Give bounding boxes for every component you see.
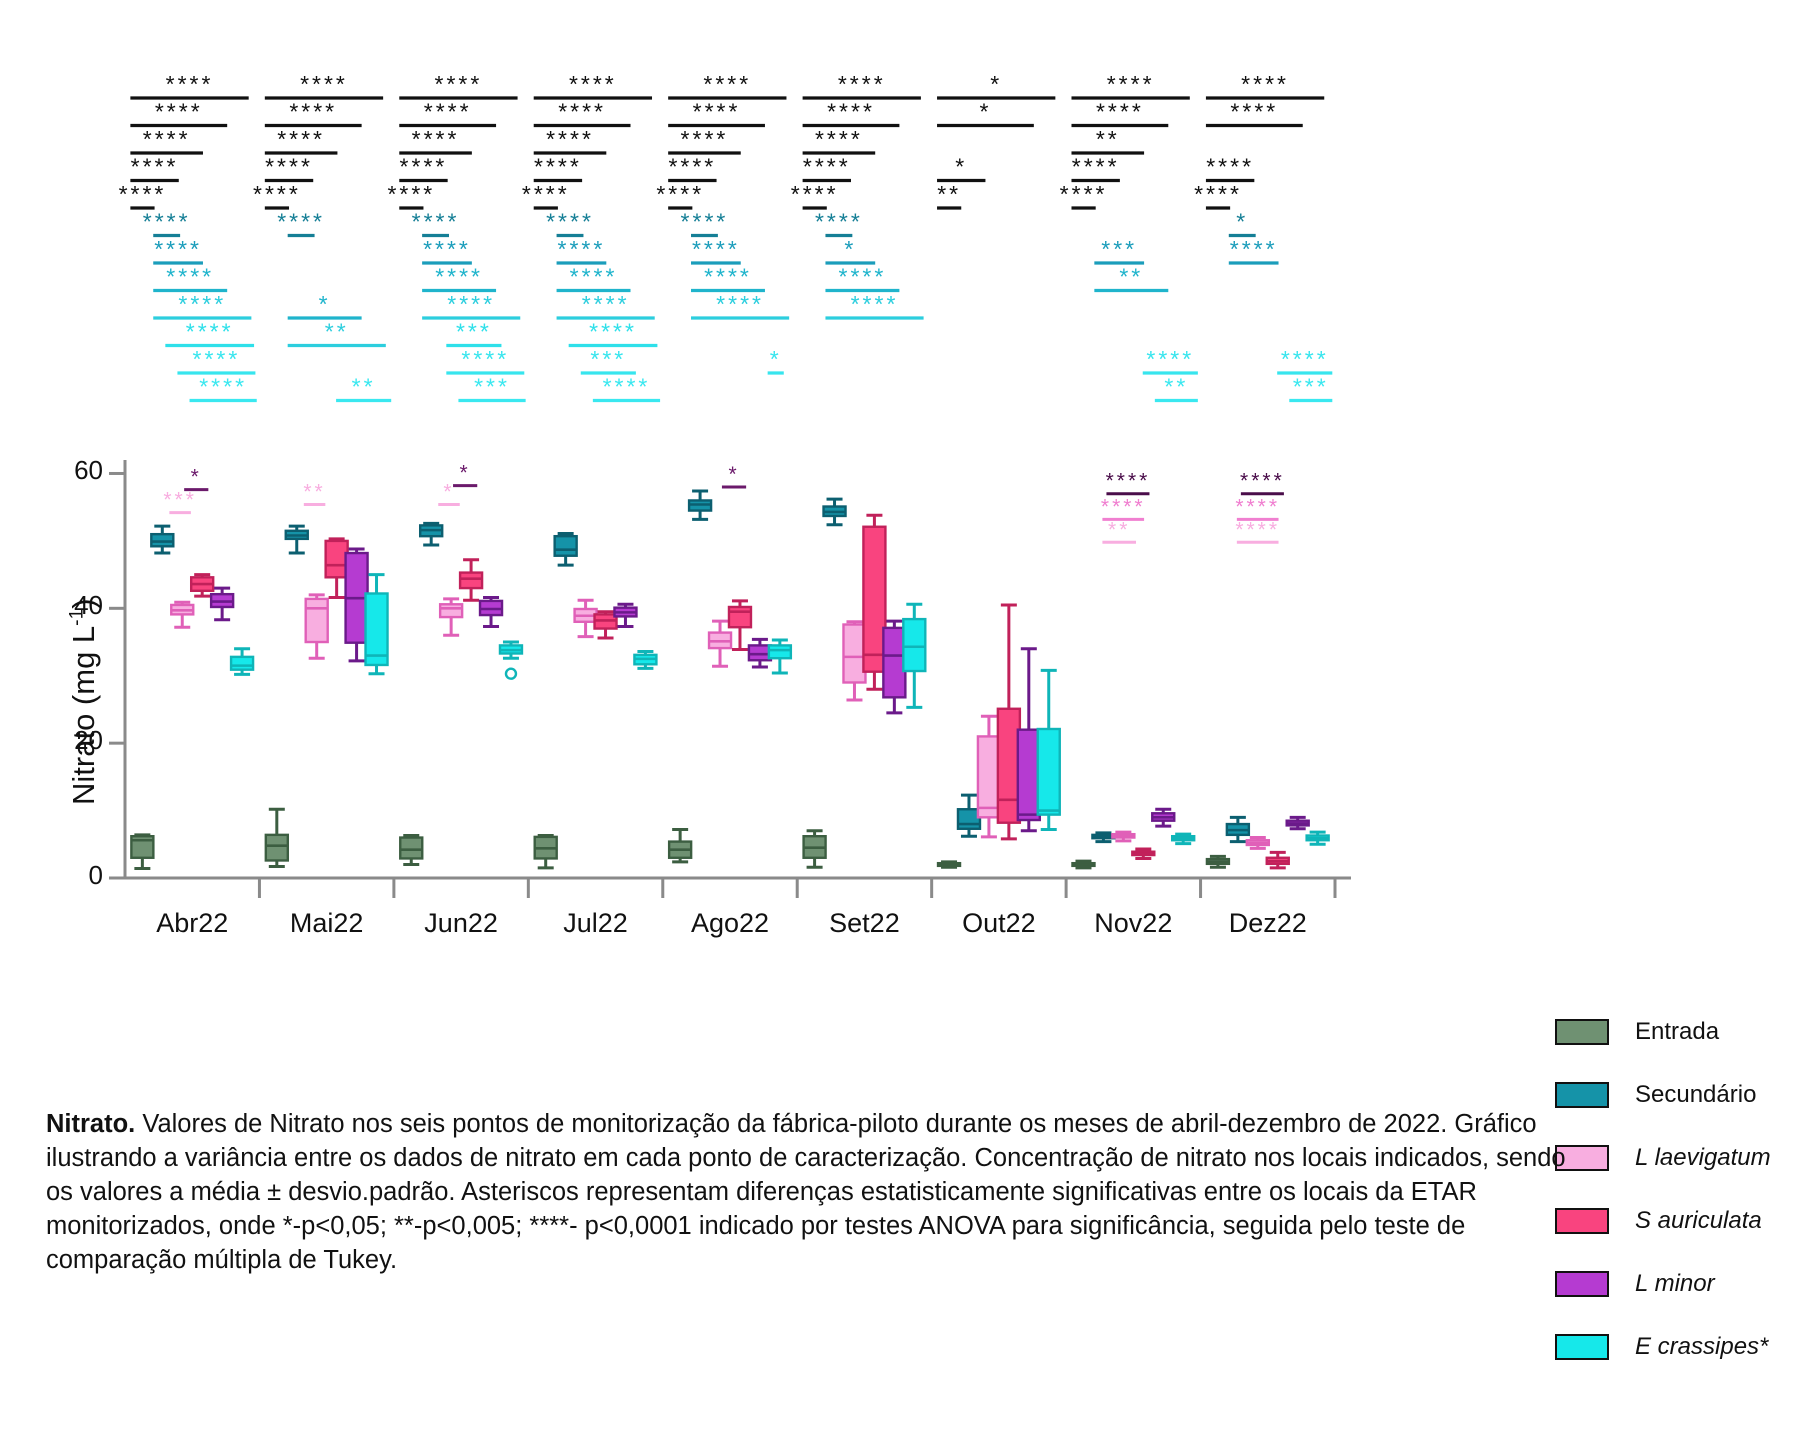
boxplot-box [575, 600, 597, 636]
significance-bracket: **** [422, 264, 496, 291]
legend-item-0[interactable]: Entrada [1555, 1000, 1771, 1063]
boxplot-box [500, 642, 522, 679]
bracket-stars: ** [937, 181, 961, 207]
box-iqr [266, 835, 288, 861]
bracket-stars: **** [791, 181, 839, 207]
significance-bracket: **** [130, 126, 203, 153]
significance-bracket: ** [1094, 264, 1168, 291]
bracket-stars: **** [693, 99, 741, 125]
boxplot-box [729, 601, 751, 650]
significance-bracket: * [937, 71, 1055, 98]
boxplot-box [804, 831, 826, 867]
caption-body: Valores de Nitrato nos seis pontos de mo… [46, 1110, 1566, 1274]
boxplot-box [824, 499, 846, 525]
inline-significance-bracket: **** [1235, 495, 1280, 519]
box-iqr [729, 607, 751, 627]
bracket-stars: **** [546, 209, 594, 235]
caption-bold-lead: Nitrato. [46, 1110, 135, 1138]
box-iqr [978, 736, 1000, 817]
significance-bracket: *** [458, 374, 525, 401]
legend-item-3[interactable]: S auriculata [1555, 1189, 1771, 1252]
significance-bracket: **** [557, 236, 607, 263]
significance-bracket: **** [153, 291, 251, 318]
boxplot-box [1227, 817, 1249, 841]
boxplot-box [1287, 817, 1309, 828]
bracket-stars: **** [166, 71, 214, 97]
bracket-stars: **** [681, 126, 729, 152]
bracket-stars: **** [827, 99, 875, 125]
bracket-stars: **** [186, 319, 234, 345]
bracket-stars: **** [603, 374, 651, 400]
bracket-stars: **** [838, 71, 886, 97]
significance-bracket: **** [265, 126, 338, 153]
significance-bracket: **** [399, 154, 447, 181]
boxplot-box [843, 622, 865, 700]
bracket-stars: **** [1230, 99, 1278, 125]
box-iqr [863, 527, 885, 672]
bracket-stars: **** [839, 264, 887, 290]
boxplot-box [266, 809, 288, 866]
x-tick-label: Out22 [932, 908, 1066, 939]
bracket-stars: **** [534, 154, 582, 180]
boxplot-box [440, 599, 462, 635]
bracket-stars: **** [570, 264, 618, 290]
legend-item-2[interactable]: L laevigatum [1555, 1126, 1771, 1189]
bracket-stars: **** [143, 126, 191, 152]
bracket-stars: **** [1096, 99, 1144, 125]
bracket-stars: **** [703, 71, 751, 97]
bracket-stars: ** [325, 319, 349, 345]
significance-bracket: **** [1060, 181, 1108, 208]
bracket-stars: **** [1194, 181, 1242, 207]
box-iqr [460, 573, 482, 589]
bracket-stars: **** [412, 209, 460, 235]
bracket-stars: **** [668, 154, 716, 180]
bracket-stars: **** [289, 99, 337, 125]
significance-bracket: *** [1094, 236, 1144, 263]
figure-caption: Nitrato. Valores de Nitrato nos seis pon… [46, 1108, 1566, 1278]
bracket-stars: **** [1101, 495, 1146, 518]
boxplot-box [1112, 832, 1134, 841]
significance-bracket: **** [1071, 154, 1119, 181]
box-iqr [231, 657, 253, 670]
bracket-stars: * [990, 71, 1002, 97]
inline-significance-bracket: * [453, 462, 477, 486]
outlier-point [506, 669, 516, 679]
bracket-stars: **** [1281, 346, 1329, 372]
significance-bracket: **** [569, 319, 658, 346]
bracket-stars: * [955, 154, 967, 180]
inline-significance-bracket: ** [303, 480, 325, 504]
bracket-stars: *** [456, 319, 492, 345]
bracket-stars: **** [178, 291, 226, 317]
significance-bracket: **** [153, 236, 203, 263]
boxplot-box [480, 598, 502, 627]
significance-bracket: *** [446, 319, 501, 346]
bracket-stars: **** [387, 181, 435, 207]
significance-bracket: **** [656, 181, 704, 208]
bracket-stars: **** [1206, 154, 1254, 180]
boxplot-box [883, 621, 905, 713]
boxplot-box [634, 651, 656, 668]
significance-bracket: **** [153, 264, 227, 291]
inline-significance-bracket: **** [1106, 470, 1151, 494]
significance-bracket: **** [668, 126, 741, 153]
bracket-stars: **** [704, 264, 752, 290]
y-tick-label: 60 [0, 455, 103, 486]
significance-bracket: **** [1206, 99, 1303, 126]
bracket-stars: **** [277, 126, 325, 152]
legend-item-4[interactable]: L minor [1555, 1252, 1771, 1315]
significance-bracket: **** [130, 99, 227, 126]
significance-bracket: **** [534, 71, 652, 98]
significance-bracket: **** [803, 99, 900, 126]
boxplot-box [1152, 809, 1174, 826]
boxplot-box [1307, 832, 1329, 844]
bracket-stars: **** [558, 99, 606, 125]
boxplot-box [346, 549, 368, 661]
boxplot-box [1038, 670, 1060, 829]
bracket-stars: **** [522, 181, 570, 207]
boxplot-box [669, 829, 691, 861]
significance-bracket: **** [546, 209, 594, 236]
significance-bracket: **** [253, 181, 301, 208]
significance-bracket: **** [825, 264, 899, 291]
box-iqr [903, 619, 925, 671]
bracket-stars: **** [435, 71, 483, 97]
legend-item-1[interactable]: Secundário [1555, 1063, 1771, 1126]
boxplot-box [326, 539, 348, 598]
x-tick-label: Ago22 [663, 908, 797, 939]
boxplot-box [555, 533, 577, 565]
bracket-stars: **** [166, 264, 214, 290]
significance-bracket: **** [791, 181, 839, 208]
bracket-stars: **** [154, 236, 202, 262]
x-tick-label: Nov22 [1066, 908, 1200, 939]
bracket-stars: *** [163, 489, 197, 512]
boxplot-box [1072, 861, 1094, 868]
bracket-stars: *** [1101, 236, 1137, 262]
bracket-stars: **** [815, 209, 863, 235]
significance-bracket: **** [668, 154, 716, 181]
significance-bracket: **** [446, 346, 524, 373]
bracket-stars: **** [1146, 346, 1194, 372]
inline-significance-bracket: *** [163, 489, 197, 513]
significance-bracket: **** [593, 374, 660, 401]
significance-bracket: **** [1071, 99, 1168, 126]
inline-significance-bracket: * [184, 466, 208, 490]
box-iqr [151, 534, 173, 546]
significance-bracket: **** [190, 374, 257, 401]
significance-bracket: **** [1143, 346, 1198, 373]
bracket-stars: * [191, 466, 202, 489]
significance-bracket: **** [412, 209, 460, 236]
inline-significance-bracket: * [438, 480, 460, 504]
bracket-stars: **** [1235, 518, 1280, 541]
significance-bracket: **** [803, 126, 876, 153]
bracket-stars: **** [692, 236, 740, 262]
significance-bracket: **** [557, 264, 631, 291]
bracket-stars: **** [199, 374, 247, 400]
significance-bracket: **** [119, 181, 167, 208]
significance-bracket: **** [1206, 71, 1324, 98]
y-axis-title: Nitrato (mg L-1) [66, 598, 102, 805]
bracket-stars: **** [656, 181, 704, 207]
bracket-stars: **** [716, 291, 764, 317]
bracket-stars: **** [851, 291, 899, 317]
bracket-stars: **** [1060, 181, 1108, 207]
bracket-stars: **** [1230, 236, 1278, 262]
significance-bracket: **** [130, 71, 248, 98]
significance-bracket: **** [691, 236, 741, 263]
significance-bracket: ** [288, 319, 386, 346]
bracket-stars: **** [423, 236, 471, 262]
bracket-stars: **** [803, 154, 851, 180]
boxplot-box [595, 612, 617, 638]
x-tick-label: Dez22 [1201, 908, 1335, 939]
boxplot-box [769, 640, 791, 673]
significance-bracket: **** [534, 99, 631, 126]
significance-bracket: **** [1277, 346, 1332, 373]
legend-label: S auriculata [1635, 1207, 1762, 1235]
bracket-stars: **** [131, 154, 179, 180]
boxplot-box [863, 515, 885, 689]
significance-bracket: **** [265, 154, 313, 181]
boxplot-box [460, 560, 482, 600]
box-iqr [1038, 729, 1060, 815]
bracket-stars: **** [569, 71, 617, 97]
boxplot-box [151, 526, 173, 553]
y-tick-label: 0 [0, 860, 103, 891]
legend-label: L minor [1635, 1270, 1715, 1298]
y-tick-label: 20 [0, 725, 103, 756]
bracket-stars: **** [681, 209, 729, 235]
bracket-stars: * [770, 346, 782, 372]
box-iqr [883, 628, 905, 697]
box-iqr [326, 541, 348, 577]
significance-bracket: **** [825, 291, 923, 318]
boxplot-box [938, 862, 960, 867]
legend: EntradaSecundárioL laevigatumS auriculat… [1555, 1000, 1771, 1378]
box-iqr [1018, 730, 1040, 820]
x-tick-label: Jul22 [528, 908, 662, 939]
bracket-stars: **** [155, 99, 203, 125]
significance-bracket: **** [1206, 154, 1254, 181]
inline-significance-bracket: **** [1240, 470, 1285, 494]
significance-bracket: **** [522, 181, 570, 208]
bracket-stars: **** [412, 126, 460, 152]
y-axis-title-main: Nitrato (mg L [66, 626, 101, 805]
significance-bracket: **** [422, 291, 520, 318]
bracket-stars: **** [1235, 495, 1280, 518]
significance-bracket: **** [691, 264, 765, 291]
boxplot-box [420, 523, 442, 545]
bracket-stars: **** [143, 209, 191, 235]
boxplot-box [171, 602, 193, 627]
legend-swatch [1555, 1334, 1609, 1360]
box-iqr [440, 604, 462, 617]
significance-layer: ****************************************… [119, 71, 1333, 542]
legend-swatch [1555, 1082, 1609, 1108]
significance-bracket: **** [265, 99, 362, 126]
significance-bracket: **** [534, 154, 582, 181]
bracket-stars: * [728, 463, 739, 486]
significance-bracket: **** [399, 71, 517, 98]
bracket-stars: **** [582, 291, 630, 317]
bracket-stars: **** [1240, 470, 1285, 493]
bracket-stars: * [1236, 209, 1248, 235]
significance-bracket: **** [130, 154, 178, 181]
bracket-stars: * [460, 462, 471, 485]
boxplot-box [131, 835, 153, 869]
bracket-stars: **** [119, 181, 167, 207]
bracket-stars: **** [1107, 71, 1155, 97]
box-iqr [306, 599, 328, 642]
boxplot-box [306, 595, 328, 658]
y-tick-label: 40 [0, 590, 103, 621]
bracket-stars: **** [400, 154, 448, 180]
significance-bracket: * [825, 236, 875, 263]
significance-bracket: *** [581, 346, 636, 373]
bracket-stars: **** [424, 99, 472, 125]
bracket-stars: ** [1119, 264, 1143, 290]
bracket-stars: **** [300, 71, 348, 97]
bracket-stars: **** [589, 319, 637, 345]
significance-bracket: **** [681, 209, 729, 236]
legend-swatch [1555, 1019, 1609, 1045]
bracket-stars: ** [1096, 126, 1120, 152]
significance-bracket: **** [143, 209, 191, 236]
significance-bracket: * [768, 346, 784, 373]
bracket-stars: ** [1108, 518, 1130, 541]
bracket-stars: **** [1106, 470, 1151, 493]
inline-significance-bracket: **** [1101, 495, 1146, 519]
bracket-stars: **** [193, 346, 241, 372]
legend-item-5[interactable]: E crassipes* [1555, 1315, 1771, 1378]
significance-bracket: **** [1229, 236, 1279, 263]
boxplot-box [231, 649, 253, 675]
bracket-stars: **** [1241, 71, 1289, 97]
bracket-stars: *** [1293, 374, 1329, 400]
bracket-stars: **** [435, 264, 483, 290]
bracket-stars: ** [1164, 374, 1188, 400]
bracket-stars: **** [1072, 154, 1120, 180]
significance-bracket: **** [1071, 71, 1189, 98]
bracket-stars: **** [253, 181, 301, 207]
bracket-stars: * [443, 480, 454, 503]
boxplot-box [1207, 856, 1229, 867]
significance-bracket: * [288, 291, 362, 318]
boxplot-box [1092, 833, 1114, 842]
significance-bracket: **** [668, 71, 786, 98]
boxplot-box [286, 526, 308, 553]
boxplot-box [709, 621, 731, 666]
boxplot-box [1267, 852, 1289, 868]
boxplot-box [211, 588, 233, 620]
significance-bracket: **** [668, 99, 765, 126]
bracket-stars: ** [352, 374, 376, 400]
significance-bracket: **** [557, 291, 655, 318]
boxplot-box [614, 604, 636, 626]
significance-bracket: **** [387, 181, 435, 208]
boxplot-box [1247, 838, 1269, 849]
bracket-stars: **** [815, 126, 863, 152]
bracket-stars: * [319, 291, 331, 317]
significance-bracket: **** [177, 346, 255, 373]
bracket-stars: * [844, 236, 856, 262]
x-tick-label: Mai22 [259, 908, 393, 939]
significance-bracket: * [937, 154, 985, 181]
significance-bracket: **** [277, 209, 325, 236]
bracket-stars: **** [265, 154, 313, 180]
bracket-stars: **** [461, 346, 509, 372]
bracket-stars: *** [590, 346, 626, 372]
bracket-stars: **** [447, 291, 495, 317]
boxplot-box [958, 795, 980, 836]
x-tick-label: Jun22 [394, 908, 528, 939]
significance-bracket: * [1229, 209, 1256, 236]
legend-label: Entrada [1635, 1018, 1719, 1046]
inline-significance-bracket: * [722, 463, 746, 487]
significance-bracket: ** [1155, 374, 1198, 401]
bracket-stars: **** [558, 236, 606, 262]
boxplot-box [978, 716, 1000, 837]
significance-bracket: ** [1071, 126, 1144, 153]
significance-bracket: **** [534, 126, 607, 153]
significance-bracket: **** [691, 291, 789, 318]
inline-significance-bracket: **** [1235, 518, 1280, 542]
legend-label: L laevigatum [1635, 1144, 1771, 1172]
significance-bracket: **** [803, 71, 921, 98]
boxplot-box [535, 836, 557, 868]
box-iqr [843, 625, 865, 683]
significance-bracket: **** [815, 209, 863, 236]
boxplot-box [366, 575, 388, 674]
significance-bracket: ** [937, 181, 961, 208]
boxplot-box [689, 491, 711, 519]
box-iqr [749, 645, 771, 660]
significance-bracket: ** [336, 374, 391, 401]
significance-bracket: *** [1289, 374, 1332, 401]
box-iqr [769, 645, 791, 658]
significance-bracket: **** [265, 71, 383, 98]
boxplot-box [1132, 849, 1154, 858]
significance-bracket: **** [422, 236, 472, 263]
inline-significance-bracket: ** [1102, 518, 1136, 542]
x-tick-label: Abr22 [125, 908, 259, 939]
box-iqr [400, 838, 422, 859]
figure-container: ****************************************… [0, 0, 1800, 1442]
significance-bracket: * [937, 99, 1034, 126]
significance-bracket: **** [165, 319, 254, 346]
legend-label: E crassipes* [1635, 1333, 1768, 1361]
bracket-stars: **** [546, 126, 594, 152]
significance-bracket: **** [803, 154, 851, 181]
bracket-stars: *** [474, 374, 510, 400]
box-iqr [958, 809, 980, 829]
boxplot-box [1172, 834, 1194, 843]
boxplot-box [749, 639, 771, 667]
x-tick-label: Set22 [797, 908, 931, 939]
box-iqr [998, 709, 1020, 823]
box-iqr [555, 536, 577, 556]
legend-label: Secundário [1635, 1081, 1756, 1109]
box-layer [131, 491, 1328, 869]
boxplot-box [400, 836, 422, 865]
boxplot-box [191, 575, 213, 597]
significance-bracket: **** [399, 126, 472, 153]
bracket-stars: **** [277, 209, 325, 235]
